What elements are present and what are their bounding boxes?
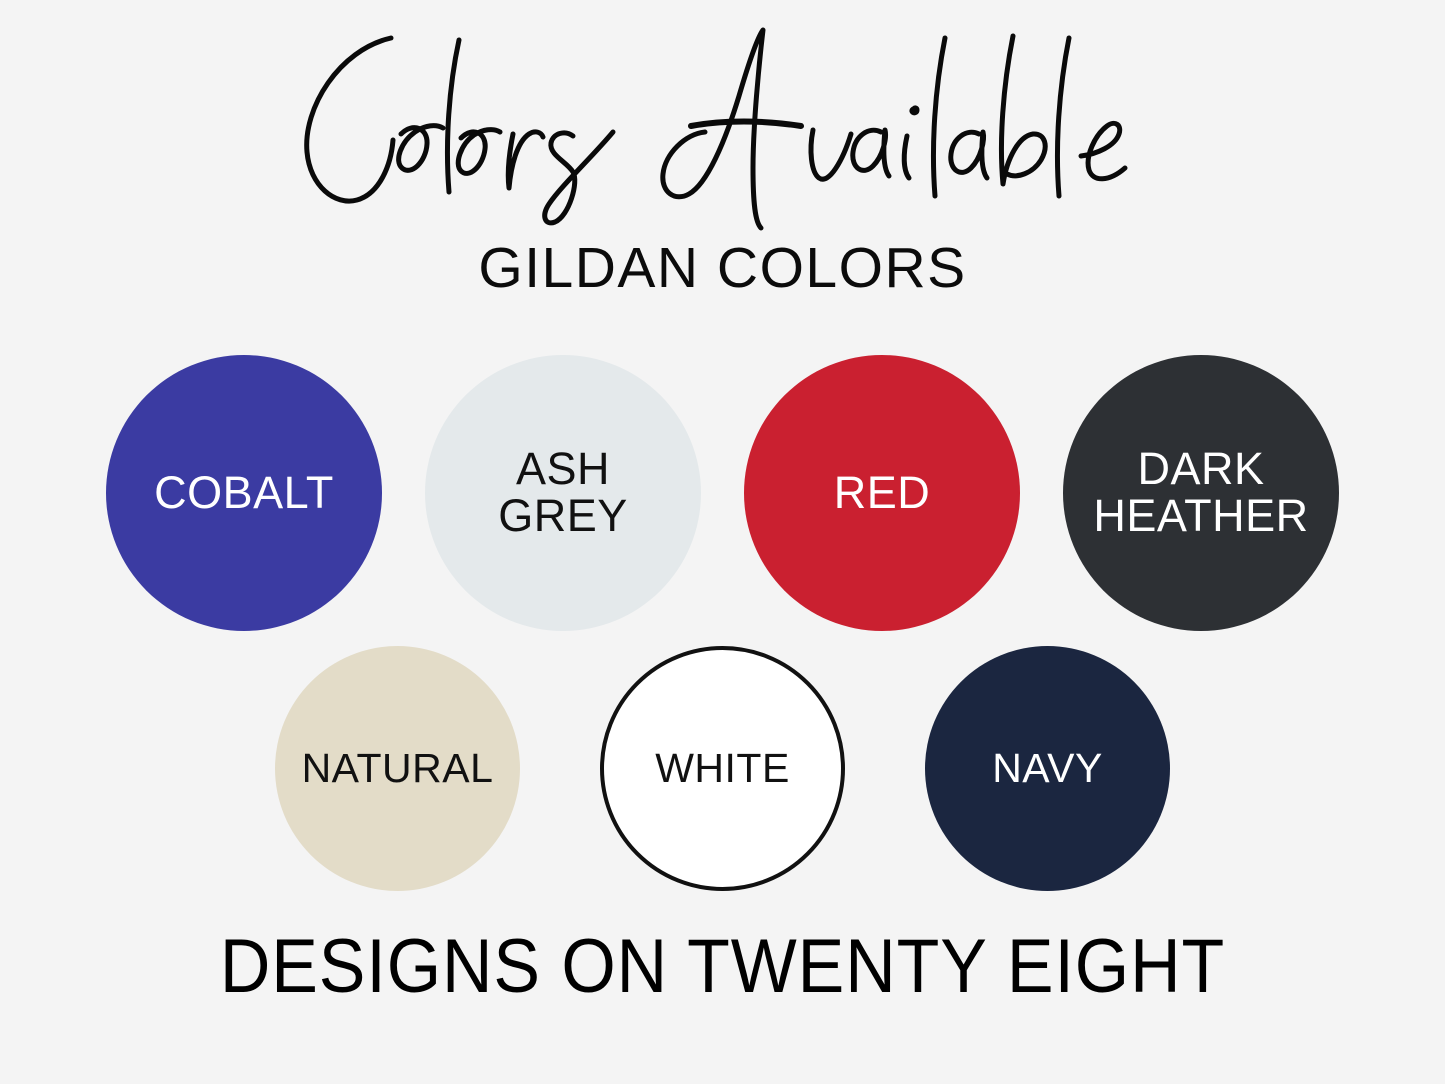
swatch-label-dark-heather: DARK HEATHER: [1093, 446, 1308, 540]
swatch-red[interactable]: RED: [744, 355, 1020, 631]
swatch-navy[interactable]: NAVY: [925, 646, 1170, 891]
color-palette-page: Colors Available: [0, 0, 1445, 1084]
swatch-natural[interactable]: NATURAL: [275, 646, 520, 891]
script-title: Colors Available: [0, 16, 1445, 231]
swatch-label-natural: NATURAL: [302, 747, 494, 790]
swatch-ash-grey[interactable]: ASH GREY: [425, 355, 701, 631]
swatch-label-ash-grey: ASH GREY: [498, 446, 628, 540]
swatch-dark-heather[interactable]: DARK HEATHER: [1063, 355, 1339, 631]
swatch-label-white: WHITE: [655, 747, 790, 790]
swatch-label-navy: NAVY: [992, 747, 1103, 790]
swatch-row-two: NATURAL WHITE NAVY: [0, 646, 1445, 891]
swatch-row-one: COBALT ASH GREY RED DARK HEATHER: [0, 355, 1445, 631]
swatch-label-cobalt: COBALT: [154, 470, 334, 517]
swatch-cobalt[interactable]: COBALT: [106, 355, 382, 631]
brand-footer: DESIGNS ON TWENTY EIGHT: [58, 924, 1387, 1010]
swatch-white[interactable]: WHITE: [600, 646, 845, 891]
subtitle: GILDAN COLORS: [0, 238, 1445, 298]
swatch-label-red: RED: [834, 470, 931, 517]
script-title-lettering: [273, 16, 1173, 231]
script-title-text: Colors Available: [722, 123, 723, 124]
